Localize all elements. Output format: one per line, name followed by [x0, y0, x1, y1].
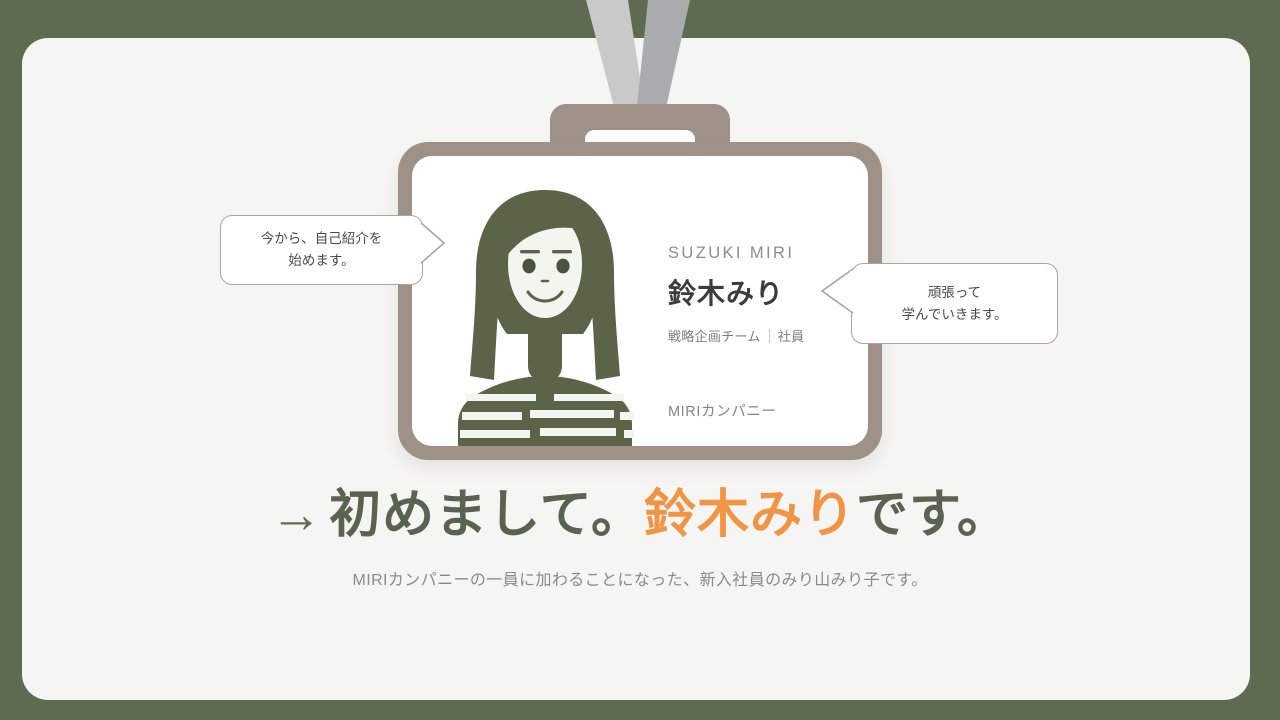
- speech-bubble-right-tail: [820, 268, 854, 314]
- headline-part2: です。: [856, 486, 1010, 544]
- avatar-illustration: [444, 180, 646, 446]
- badge-role-line: 戦略企画チーム 社員: [668, 326, 858, 345]
- speech-bubble-left-tail: [420, 222, 446, 264]
- subtitle: MIRIカンパニーの一員に加わることになった、新入社員のみり山みり子です。: [0, 566, 1280, 590]
- speech-bubble-left: 今から、自己紹介を 始めます。: [220, 215, 423, 285]
- badge-position: 社員: [778, 326, 805, 345]
- speech-bubble-right: 頑張って 学んでいきます。: [851, 263, 1058, 344]
- slide-root: SUZUKI MIRI 鈴木みり 戦略企画チーム 社員 MIRIカンパニー 今か…: [0, 0, 1280, 720]
- speech-bubble-right-text: 頑張って 学んでいきます。: [890, 282, 1020, 326]
- headline-highlight: 鈴木みり: [644, 486, 856, 544]
- badge-face: SUZUKI MIRI 鈴木みり 戦略企画チーム 社員 MIRIカンパニー: [412, 156, 868, 446]
- badge-team: 戦略企画チーム: [668, 326, 761, 345]
- badge-frame: SUZUKI MIRI 鈴木みり 戦略企画チーム 社員 MIRIカンパニー: [398, 142, 882, 460]
- arrow-icon: →: [270, 486, 323, 544]
- speech-bubble-left-text: 今から、自己紹介を 始めます。: [249, 228, 395, 272]
- badge-company: MIRIカンパニー: [668, 400, 777, 421]
- headline: →初めまして。鈴木みりです。: [0, 486, 1280, 546]
- role-divider: [769, 329, 770, 343]
- headline-part1: 初めまして。: [329, 486, 644, 544]
- badge-name-roman: SUZUKI MIRI: [668, 244, 858, 263]
- id-badge: SUZUKI MIRI 鈴木みり 戦略企画チーム 社員 MIRIカンパニー: [398, 104, 882, 460]
